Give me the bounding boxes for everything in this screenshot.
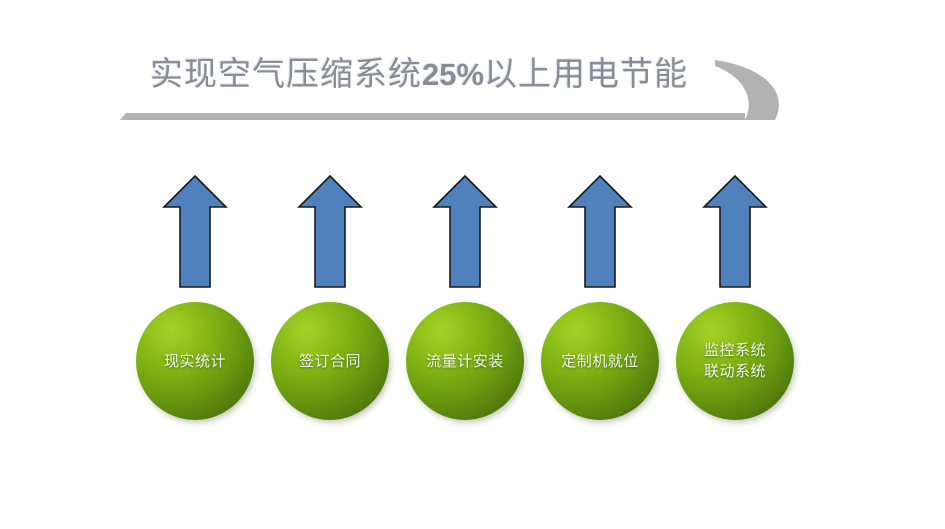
title-suffix: 以上用电节能	[484, 57, 688, 93]
process-node-label: 监控系统 联动系统	[698, 340, 772, 382]
arrow-row	[0, 174, 945, 290]
process-node-label: 现实统计	[158, 351, 232, 372]
process-node-5[interactable]: 监控系统 联动系统	[676, 302, 794, 420]
process-node-label: 流量计安装	[420, 351, 510, 372]
process-node-3[interactable]: 流量计安装	[406, 302, 524, 420]
process-node-1[interactable]: 现实统计	[136, 302, 254, 420]
title-banner: 实现空气压缩系统25%以上用电节能	[120, 38, 800, 130]
up-arrow-icon-4	[567, 174, 633, 289]
process-node-4[interactable]: 定制机就位	[541, 302, 659, 420]
title-percent: 25%	[422, 57, 484, 92]
up-arrow-icon-5	[702, 174, 768, 289]
slide-canvas: 实现空气压缩系统25%以上用电节能 现实统计 签订合同 流量计安装	[0, 0, 945, 529]
process-node-2[interactable]: 签订合同	[271, 302, 389, 420]
up-arrow-icon-2	[297, 174, 363, 289]
process-node-label: 签订合同	[293, 351, 367, 372]
up-arrow-icon-1	[162, 174, 228, 289]
page-title: 实现空气压缩系统25%以上用电节能	[150, 44, 770, 106]
node-row: 现实统计 签订合同 流量计安装 定制机就位 监控系统 联动系统	[0, 302, 945, 427]
title-prefix: 实现空气压缩系统	[150, 57, 422, 93]
up-arrow-icon-3	[432, 174, 498, 289]
process-node-label: 定制机就位	[555, 351, 645, 372]
